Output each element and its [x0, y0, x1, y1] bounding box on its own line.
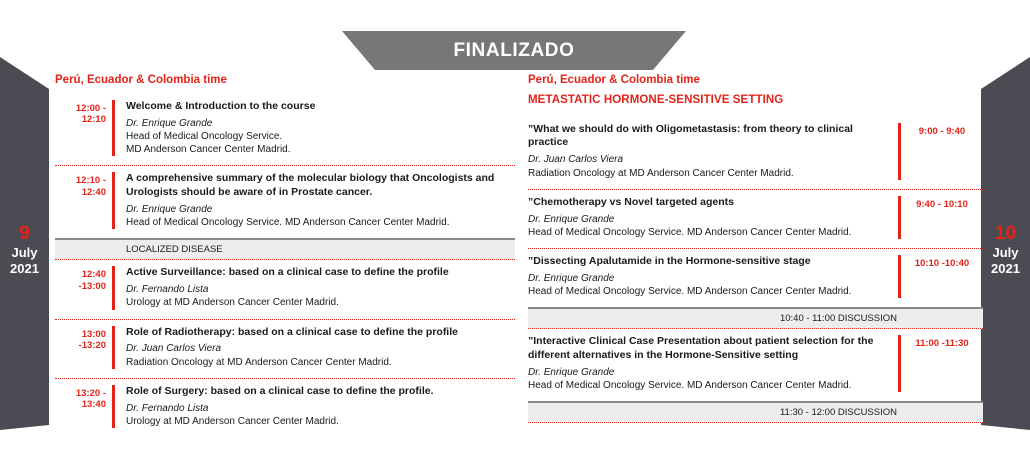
session-speaker: Dr. Enrique Grande	[528, 366, 888, 379]
session-affiliation: Head of Medical Oncology Service. MD And…	[528, 285, 888, 298]
agenda-band: 11:30 - 12:00 DISCUSSION	[528, 401, 983, 423]
session-time: 12:10 - 12:40	[55, 172, 112, 229]
agenda-column-day-1: Perú, Ecuador & Colombia time 12:00 - 12…	[55, 74, 515, 437]
session-affiliation: Urology at MD Anderson Cancer Center Mad…	[126, 296, 515, 309]
session-body: ”Interactive Clinical Case Presentation …	[528, 335, 898, 392]
session-body: A comprehensive summary of the molecular…	[126, 172, 515, 229]
session-title: Role of Radiotherapy: based on a clinica…	[126, 326, 515, 340]
session-body: Role of Radiotherapy: based on a clinica…	[126, 326, 515, 369]
agenda-poster: FINALIZADO 9 July 2021 10 July 2021 Perú…	[0, 0, 1030, 450]
session-affiliation: Head of Medical Oncology Service.	[126, 130, 515, 143]
session-row: ”Interactive Clinical Case Presentation …	[528, 329, 983, 401]
agenda-band-label: LOCALIZED DISEASE	[126, 245, 223, 255]
date-tab-left-inner: 9 July 2021	[0, 223, 49, 276]
session-title: ”Dissecting Apalutamide in the Hormone-s…	[528, 255, 888, 269]
date-month-label: July	[0, 245, 49, 260]
timezone-header: Perú, Ecuador & Colombia time	[528, 74, 983, 88]
session-row: ”Chemotherapy vs Novel targeted agentsDr…	[528, 189, 983, 248]
date-tab-day-2: 10 July 2021	[981, 53, 1030, 430]
session-affiliation: Radiation Oncology at MD Anderson Cancer…	[126, 356, 515, 369]
session-speaker: Dr. Juan Carlos Viera	[126, 342, 515, 355]
session-row: 13:00 -13:20Role of Radiotherapy: based …	[55, 319, 515, 378]
date-tab-day-1: 9 July 2021	[0, 53, 49, 430]
session-row: ”What we should do with Oligometastasis:…	[528, 117, 983, 189]
session-row: 12:40 -13:00Active Surveillance: based o…	[55, 260, 515, 318]
session-speaker: Dr. Enrique Grande	[126, 117, 515, 130]
session-time: 12:40 -13:00	[55, 266, 112, 309]
session-body: ”What we should do with Oligometastasis:…	[528, 123, 898, 180]
session-title: A comprehensive summary of the molecular…	[126, 172, 515, 200]
session-time: 9:40 - 10:10	[901, 196, 983, 239]
agenda-band-label: 10:40 - 11:00 DISCUSSION	[780, 314, 897, 324]
session-affiliation: MD Anderson Cancer Center Madrid.	[126, 143, 515, 156]
date-tab-right-inner: 10 July 2021	[981, 223, 1030, 276]
session-title: ”What we should do with Oligometastasis:…	[528, 123, 888, 151]
timezone-header: Perú, Ecuador & Colombia time	[55, 74, 515, 88]
status-badge: FINALIZADO	[453, 41, 574, 60]
session-affiliation: Head of Medical Oncology Service. MD And…	[528, 226, 888, 239]
session-speaker: Dr. Juan Carlos Viera	[528, 153, 888, 166]
session-title: Role of Surgery: based on a clinical cas…	[126, 385, 515, 399]
session-row: 12:00 - 12:10Welcome & Introduction to t…	[55, 94, 515, 165]
session-time: 13:00 -13:20	[55, 326, 112, 369]
date-day-number: 9	[0, 223, 49, 245]
date-year-label: 2021	[0, 261, 49, 276]
session-body: Active Surveillance: based on a clinical…	[126, 266, 515, 309]
session-rule	[112, 172, 115, 229]
session-speaker: Dr. Fernando Lista	[126, 283, 515, 296]
session-row: 13:20 - 13:40Role of Surgery: based on a…	[55, 378, 515, 437]
status-banner: FINALIZADO	[342, 31, 686, 70]
session-speaker: Dr. Fernando Lista	[126, 402, 515, 415]
date-month-label: July	[981, 245, 1030, 260]
session-body: ”Dissecting Apalutamide in the Hormone-s…	[528, 255, 898, 298]
session-title: ”Chemotherapy vs Novel targeted agents	[528, 196, 888, 210]
section-header: METASTATIC HORMONE-SENSITIVE SETTING	[528, 94, 983, 108]
session-speaker: Dr. Enrique Grande	[528, 213, 888, 226]
session-body: Role of Surgery: based on a clinical cas…	[126, 385, 515, 428]
session-speaker: Dr. Enrique Grande	[528, 272, 888, 285]
session-affiliation: Radiation Oncology at MD Anderson Cancer…	[528, 167, 888, 180]
agenda-band: LOCALIZED DISEASE	[55, 238, 515, 260]
session-time: 9:00 - 9:40	[901, 123, 983, 180]
session-time: 12:00 - 12:10	[55, 100, 112, 156]
agenda-band: 10:40 - 11:00 DISCUSSION	[528, 307, 983, 329]
session-row: 12:10 - 12:40A comprehensive summary of …	[55, 165, 515, 238]
session-affiliation: Head of Medical Oncology Service. MD And…	[126, 216, 515, 229]
session-speaker: Dr. Enrique Grande	[126, 203, 515, 216]
session-time: 10:10 -10:40	[901, 255, 983, 298]
session-rule	[112, 266, 115, 309]
date-day-number: 10	[981, 223, 1030, 245]
session-time: 13:20 - 13:40	[55, 385, 112, 428]
session-row: ”Dissecting Apalutamide in the Hormone-s…	[528, 248, 983, 307]
date-year-label: 2021	[981, 261, 1030, 276]
session-affiliation: Urology at MD Anderson Cancer Center Mad…	[126, 415, 515, 428]
session-affiliation: Head of Medical Oncology Service. MD And…	[528, 379, 888, 392]
session-title: Welcome & Introduction to the course	[126, 100, 515, 114]
session-title: Active Surveillance: based on a clinical…	[126, 266, 515, 280]
session-list-day-1: 12:00 - 12:10Welcome & Introduction to t…	[55, 94, 515, 437]
session-body: Welcome & Introduction to the courseDr. …	[126, 100, 515, 156]
session-body: ”Chemotherapy vs Novel targeted agentsDr…	[528, 196, 898, 239]
session-title: ”Interactive Clinical Case Presentation …	[528, 335, 888, 363]
agenda-column-day-2: Perú, Ecuador & Colombia time METASTATIC…	[528, 74, 983, 423]
session-rule	[112, 100, 115, 156]
session-time: 11:00 -11:30	[901, 335, 983, 392]
session-rule	[112, 385, 115, 428]
agenda-band-label: 11:30 - 12:00 DISCUSSION	[780, 408, 897, 418]
session-list-day-2: ”What we should do with Oligometastasis:…	[528, 117, 983, 424]
session-rule	[112, 326, 115, 369]
